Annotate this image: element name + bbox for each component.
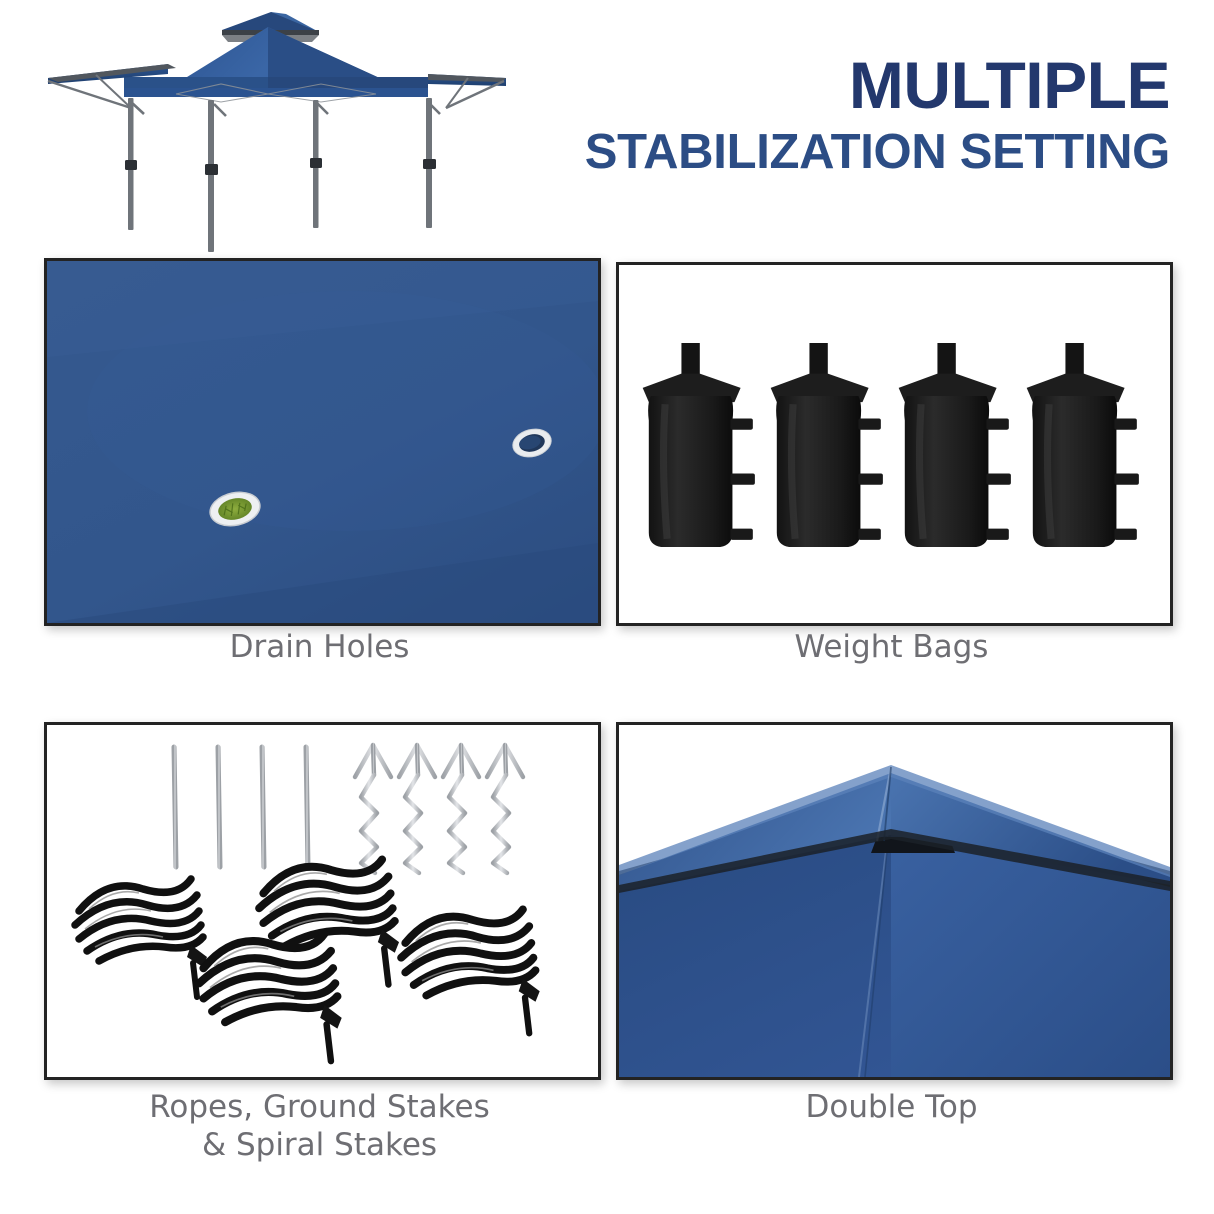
ropes-stakes-image — [47, 725, 598, 1077]
infographic-canvas: MULTIPLE STABILIZATION SETTING — [0, 0, 1214, 1214]
caption-double-top: Double Top — [616, 1089, 1167, 1127]
caption-ropes-stakes: Ropes, Ground Stakes & Spiral Stakes — [44, 1089, 595, 1165]
header-title-block: MULTIPLE STABILIZATION SETTING — [585, 52, 1170, 177]
page-subtitle: STABILIZATION SETTING — [585, 128, 1170, 177]
drain-holes-image — [47, 261, 598, 623]
caption-drain-holes: Drain Holes — [44, 629, 595, 667]
panel-weight-bags — [616, 262, 1173, 626]
weight-bags-image — [619, 265, 1170, 623]
hero-gazebo-image — [36, 2, 536, 252]
double-top-image — [619, 725, 1170, 1077]
page-title: MULTIPLE — [585, 52, 1170, 118]
panel-drain-holes — [44, 258, 601, 626]
panel-ropes-stakes — [44, 722, 601, 1080]
panel-double-top — [616, 722, 1173, 1080]
caption-weight-bags: Weight Bags — [616, 629, 1167, 667]
